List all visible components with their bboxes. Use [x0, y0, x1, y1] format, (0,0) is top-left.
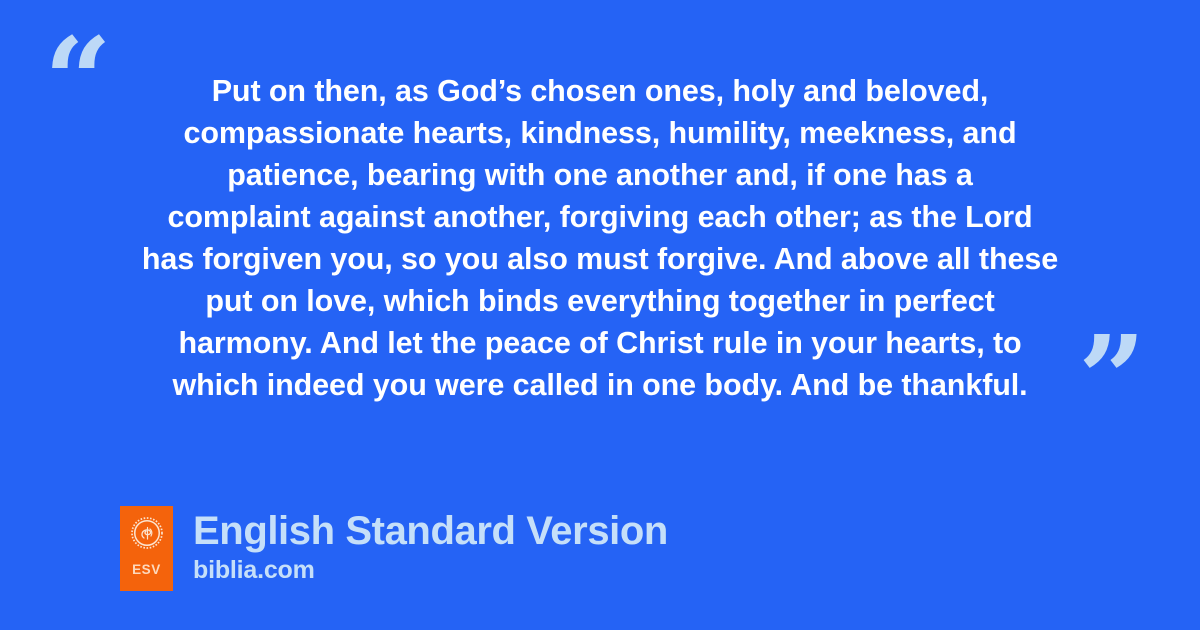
quote-line: complaint against another, forgiving eac… [100, 196, 1100, 238]
bible-version-name: English Standard Version [193, 508, 668, 554]
quote-text-block: Put on then, as God’s chosen ones, holy … [100, 70, 1100, 406]
attribution-block: ESV English Standard Version biblia.com [120, 506, 668, 591]
esv-seal-icon [131, 517, 163, 549]
quote-line: which indeed you were called in one body… [100, 364, 1100, 406]
esv-logo: ESV [120, 506, 173, 591]
esv-abbreviation-label: ESV [132, 563, 161, 577]
close-quote-mark-icon: ” [1078, 320, 1144, 438]
quote-line: harmony. And let the peace of Christ rul… [100, 322, 1100, 364]
quote-line: Put on then, as God’s chosen ones, holy … [100, 70, 1100, 112]
quote-card: “ Put on then, as God’s chosen ones, hol… [0, 0, 1200, 630]
quote-line: put on love, which binds everything toge… [100, 280, 1100, 322]
quote-line: patience, bearing with one another and, … [100, 154, 1100, 196]
attribution-text-group: English Standard Version biblia.com [193, 506, 668, 585]
quote-line: has forgiven you, so you also must forgi… [100, 238, 1100, 280]
site-url-label: biblia.com [193, 555, 668, 585]
quote-line: compassionate hearts, kindness, humility… [100, 112, 1100, 154]
